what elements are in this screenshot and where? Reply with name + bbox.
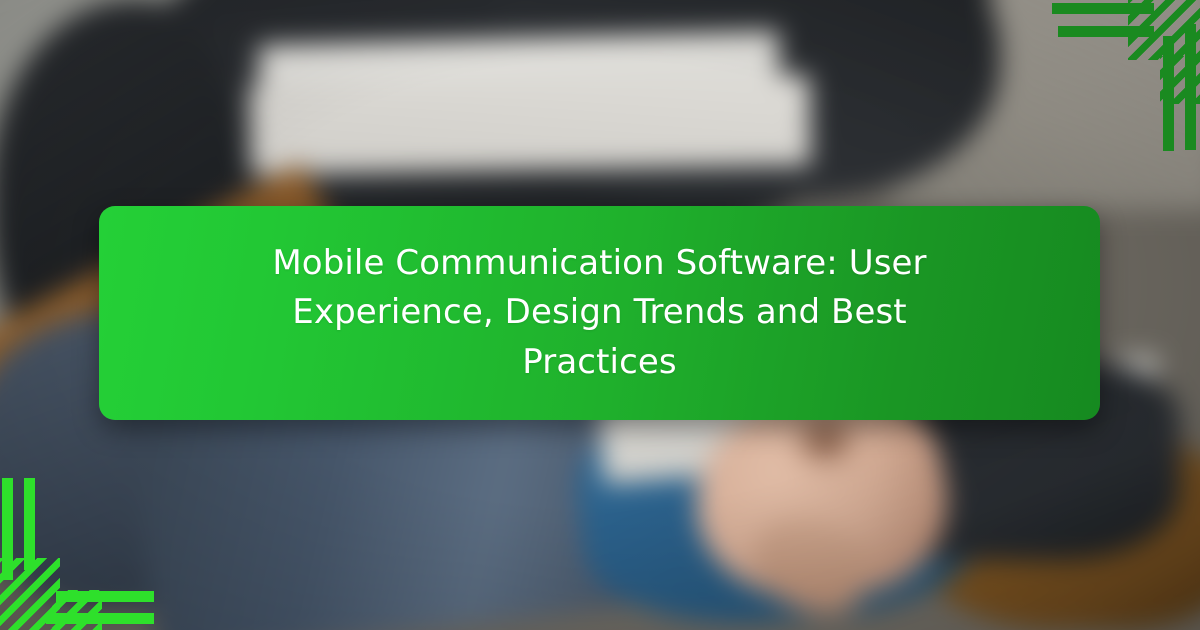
- corner-bar-vertical-2: [24, 478, 35, 570]
- corner-bar-vertical-1: [1163, 36, 1174, 151]
- corner-bracket-bottom-left: [0, 470, 165, 630]
- corner-bracket-top-right: [1040, 0, 1200, 130]
- title-banner: Mobile Communication Software: User Expe…: [99, 206, 1100, 420]
- corner-bar-horizontal-2: [46, 613, 154, 624]
- corner-bar-horizontal-1: [1052, 3, 1154, 14]
- corner-bar-vertical-1: [2, 478, 13, 580]
- corner-bar-horizontal-2: [1058, 26, 1154, 37]
- corner-bar-vertical-2: [1185, 24, 1196, 150]
- page-title: Mobile Communication Software: User Expe…: [220, 239, 980, 387]
- social-share-card: Mobile Communication Software: User Expe…: [0, 0, 1200, 630]
- corner-bar-horizontal-1: [56, 591, 154, 602]
